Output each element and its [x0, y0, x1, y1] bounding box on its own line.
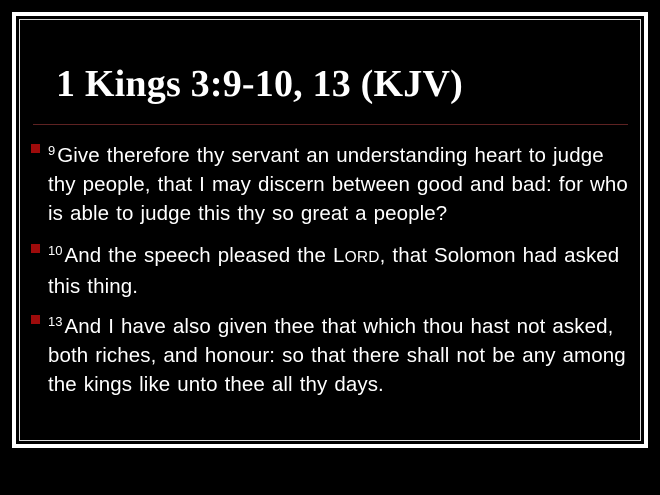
list-item: 10And the speech pleased the LORD, that … — [28, 236, 628, 301]
bullet-square-icon — [31, 315, 40, 324]
bullet-square-icon — [31, 144, 40, 153]
list-item: 9Give therefore thy servant an understan… — [28, 136, 628, 230]
bullet-square-icon — [31, 244, 40, 253]
verse-text-lead: Give therefore thy servant an understand… — [48, 144, 628, 225]
verse-number: 9 — [48, 143, 55, 158]
scripture-body: 9Give therefore thy servant an understan… — [28, 136, 628, 407]
list-item: 13And I have also given thee that which … — [28, 307, 628, 401]
verse-number: 13 — [48, 314, 62, 329]
divine-name-lead: L — [333, 244, 345, 267]
bullet-text: 13And I have also given thee that which … — [48, 307, 628, 401]
scripture-slide: 1 Kings 3:9-10, 13 (KJV) 9Give therefore… — [0, 0, 660, 495]
slide-title: 1 Kings 3:9-10, 13 (KJV) — [56, 62, 616, 106]
verse-text-lead: And I have also given thee that which th… — [48, 315, 626, 396]
title-divider — [33, 124, 628, 125]
bullet-text: 10And the speech pleased the LORD, that … — [48, 236, 628, 301]
divine-name-rest: ORD — [345, 249, 380, 266]
verse-number: 10 — [48, 243, 62, 258]
verse-text-lead: And the speech pleased the — [64, 244, 333, 267]
bullet-text: 9Give therefore thy servant an understan… — [48, 136, 628, 230]
